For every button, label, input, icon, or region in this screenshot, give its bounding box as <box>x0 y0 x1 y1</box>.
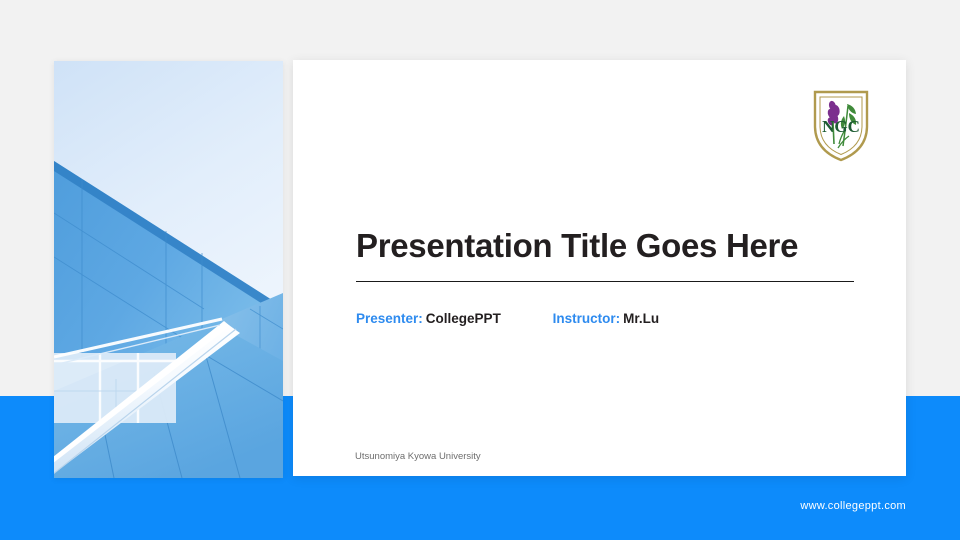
architecture-photo <box>54 61 283 478</box>
instructor-label: Instructor: <box>553 311 621 326</box>
slide-content-card: NGC Presentation Title Goes Here Present… <box>293 60 906 476</box>
presenter-value: CollegePPT <box>426 311 501 326</box>
instructor-item: Instructor:Mr.Lu <box>553 311 660 326</box>
title-block: Presentation Title Goes Here <box>356 228 856 282</box>
crest-letters: NGC <box>822 117 860 136</box>
presentation-meta: Presenter:CollegePPT Instructor:Mr.Lu <box>356 311 659 326</box>
instructor-value: Mr.Lu <box>623 311 659 326</box>
title-divider <box>356 281 854 282</box>
website-url: www.collegeppt.com <box>800 500 906 512</box>
page-title: Presentation Title Goes Here <box>356 228 856 264</box>
ngc-crest-graphic: NGC <box>809 86 873 164</box>
presenter-item: Presenter:CollegePPT <box>356 311 501 326</box>
architecture-photo-graphic <box>54 61 283 478</box>
ngc-crest-logo: NGC <box>809 86 873 164</box>
presentation-slide: www.collegeppt.com <box>0 0 960 540</box>
presenter-label: Presenter: <box>356 311 423 326</box>
organization-name: Utsunomiya Kyowa University <box>355 451 481 462</box>
